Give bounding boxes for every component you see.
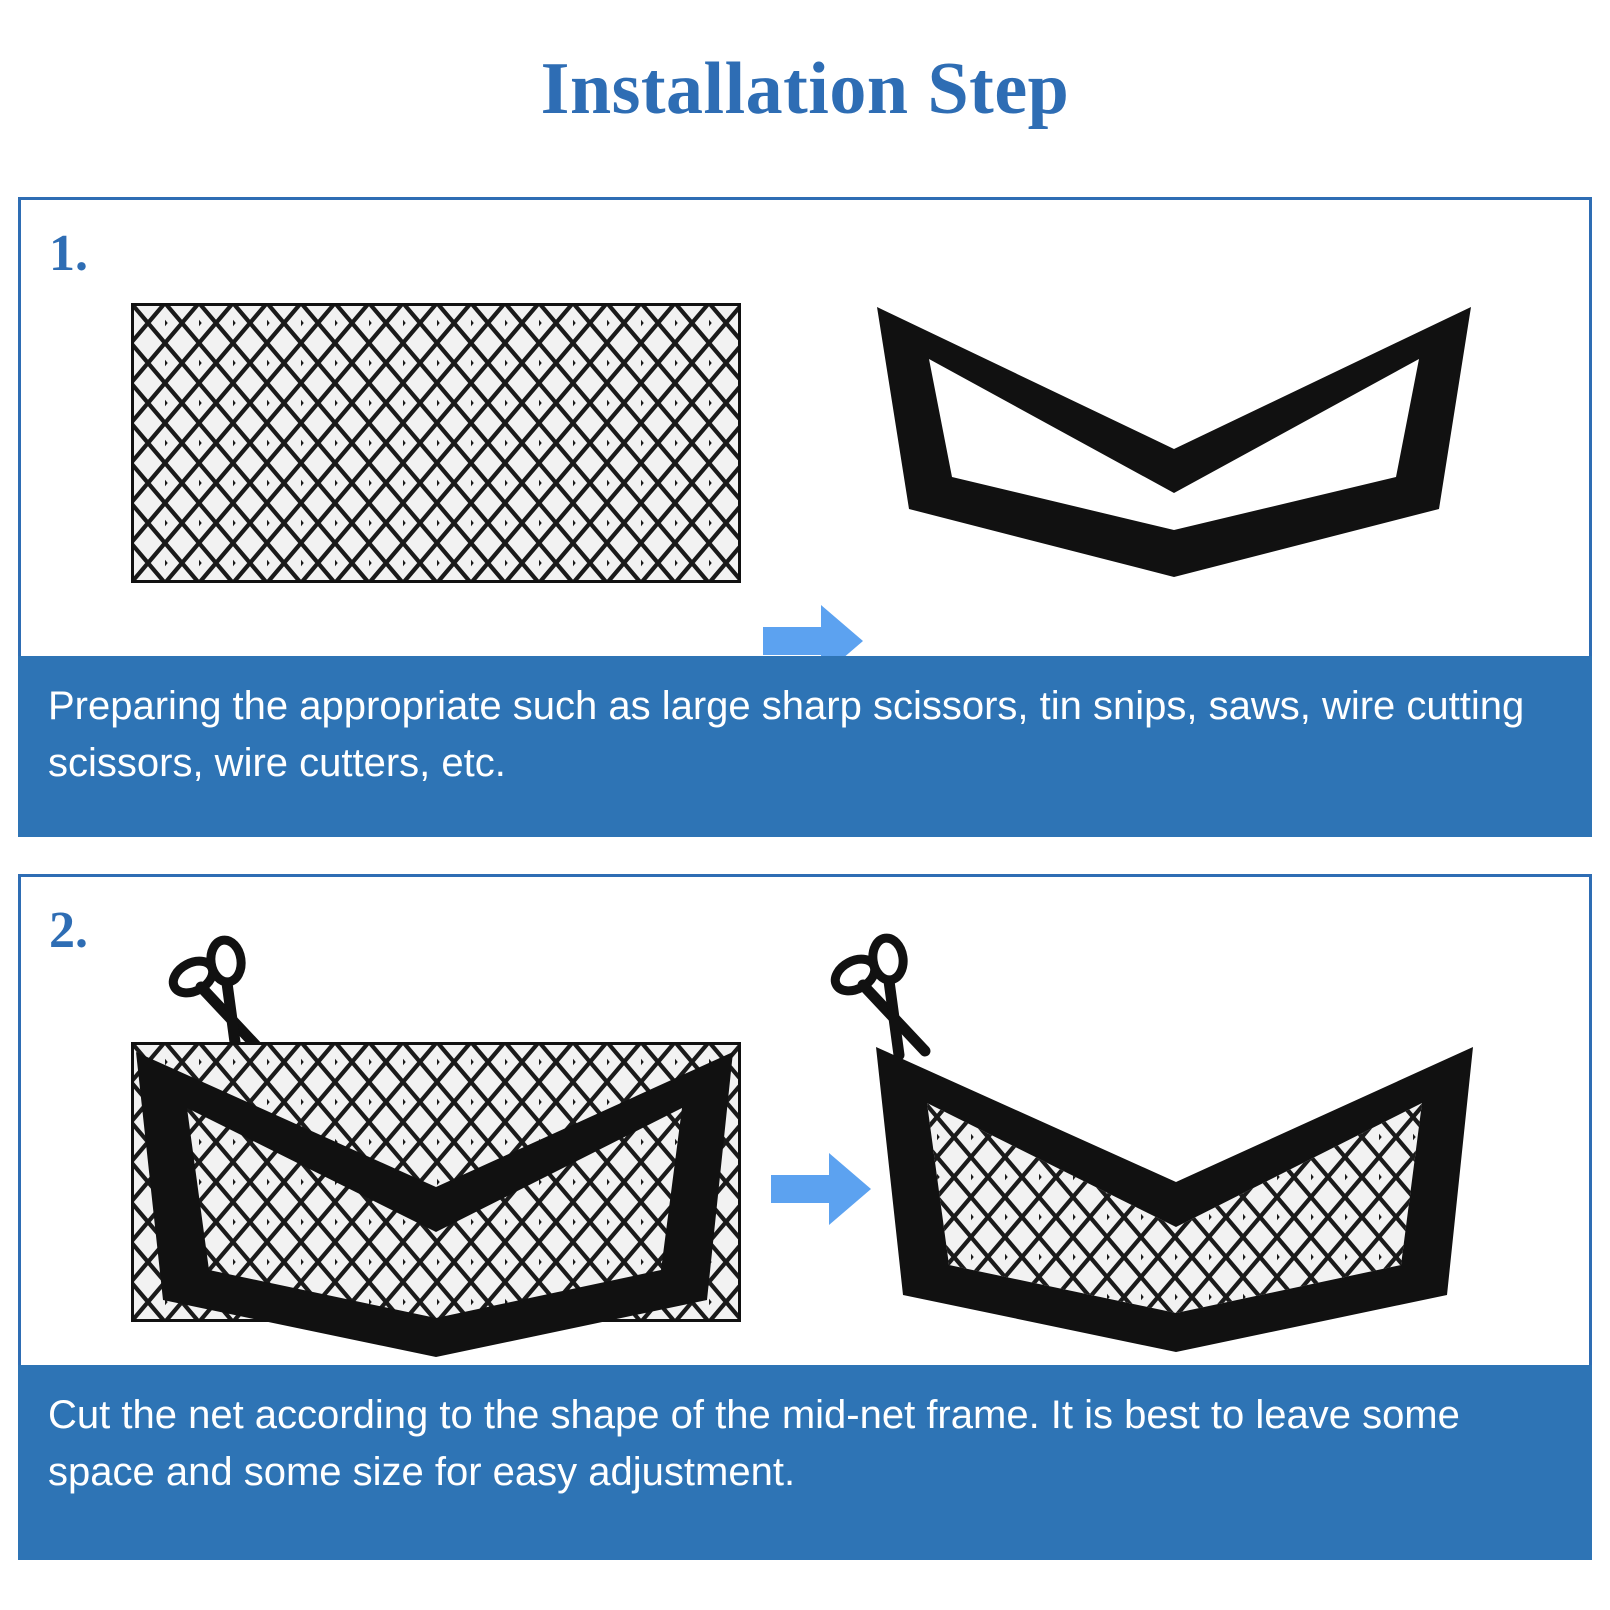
step-1-caption: Preparing the appropriate such as large …: [18, 656, 1592, 837]
step-2-figure-area: 2.: [21, 877, 1589, 1371]
step-2-caption: Cut the net according to the shape of th…: [18, 1365, 1592, 1560]
step-2-panel: 2.: [18, 874, 1592, 1560]
mesh-with-frame-overlay-graphic: [131, 1042, 741, 1322]
mesh-sheet-graphic: [131, 303, 741, 583]
step-1-panel: 1.: [18, 197, 1592, 837]
step-2-number: 2.: [49, 905, 88, 957]
arrow-right-icon-2: [771, 1149, 871, 1229]
cut-mesh-in-frame-graphic: [869, 1037, 1484, 1337]
installation-step-page: Installation Step 1.: [0, 0, 1610, 1610]
page-title: Installation Step: [0, 52, 1610, 126]
step-1-figure-area: 1.: [21, 200, 1589, 662]
chevron-frame-graphic: [869, 297, 1479, 587]
step-1-number: 1.: [49, 228, 88, 280]
